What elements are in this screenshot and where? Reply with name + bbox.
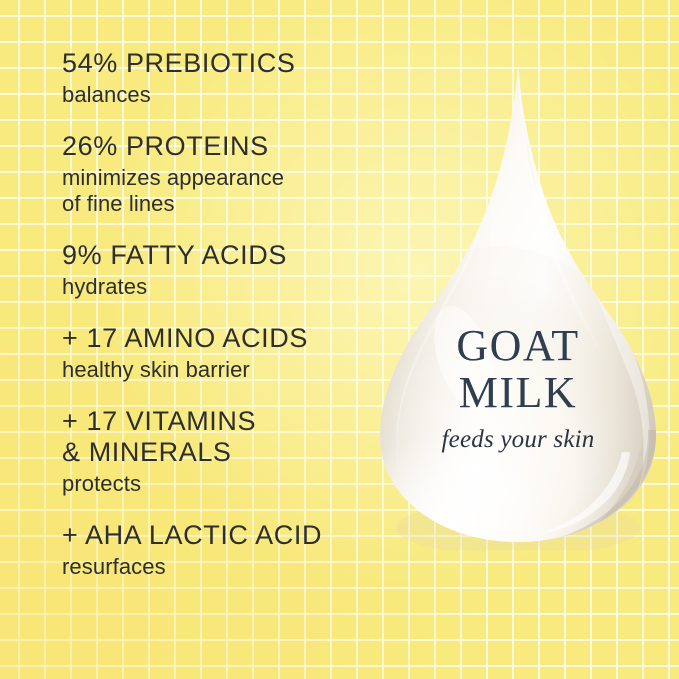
infographic-canvas: 54% PREBIOTICS balances 26% PROTEINS min… (0, 0, 679, 679)
ingredient-heading: + 17 AMINO ACIDS (62, 323, 382, 355)
ingredient-heading: + AHA LACTIC ACID (62, 520, 382, 552)
ingredient-item-vitamins-minerals: + 17 VITAMINS & MINERALS protects (62, 406, 382, 499)
ingredient-heading: 26% PROTEINS (62, 131, 382, 163)
ingredient-item-aha-lactic-acid: + AHA LACTIC ACID resurfaces (62, 520, 382, 581)
ingredient-item-fatty-acids: 9% FATTY ACIDS hydrates (62, 240, 382, 301)
ingredient-description: balances (62, 82, 382, 109)
ingredient-description: minimizes appearance of fine lines (62, 165, 382, 219)
ingredient-item-proteins: 26% PROTEINS minimizes appearance of fin… (62, 131, 382, 219)
ingredient-description: protects (62, 471, 382, 498)
ingredient-heading: + 17 VITAMINS & MINERALS (62, 406, 382, 470)
ingredient-heading: 54% PREBIOTICS (62, 48, 382, 80)
ingredient-description: healthy skin barrier (62, 357, 382, 384)
ingredient-item-prebiotics: 54% PREBIOTICS balances (62, 48, 382, 109)
ingredient-list: 54% PREBIOTICS balances 26% PROTEINS min… (62, 48, 382, 581)
milk-droplet-icon (372, 58, 664, 550)
ingredient-description: resurfaces (62, 554, 382, 581)
ingredient-item-amino-acids: + 17 AMINO ACIDS healthy skin barrier (62, 323, 382, 384)
ingredient-description: hydrates (62, 274, 382, 301)
milk-droplet-graphic: GOAT MILK feeds your skin (372, 58, 664, 550)
ingredient-heading: 9% FATTY ACIDS (62, 240, 382, 272)
